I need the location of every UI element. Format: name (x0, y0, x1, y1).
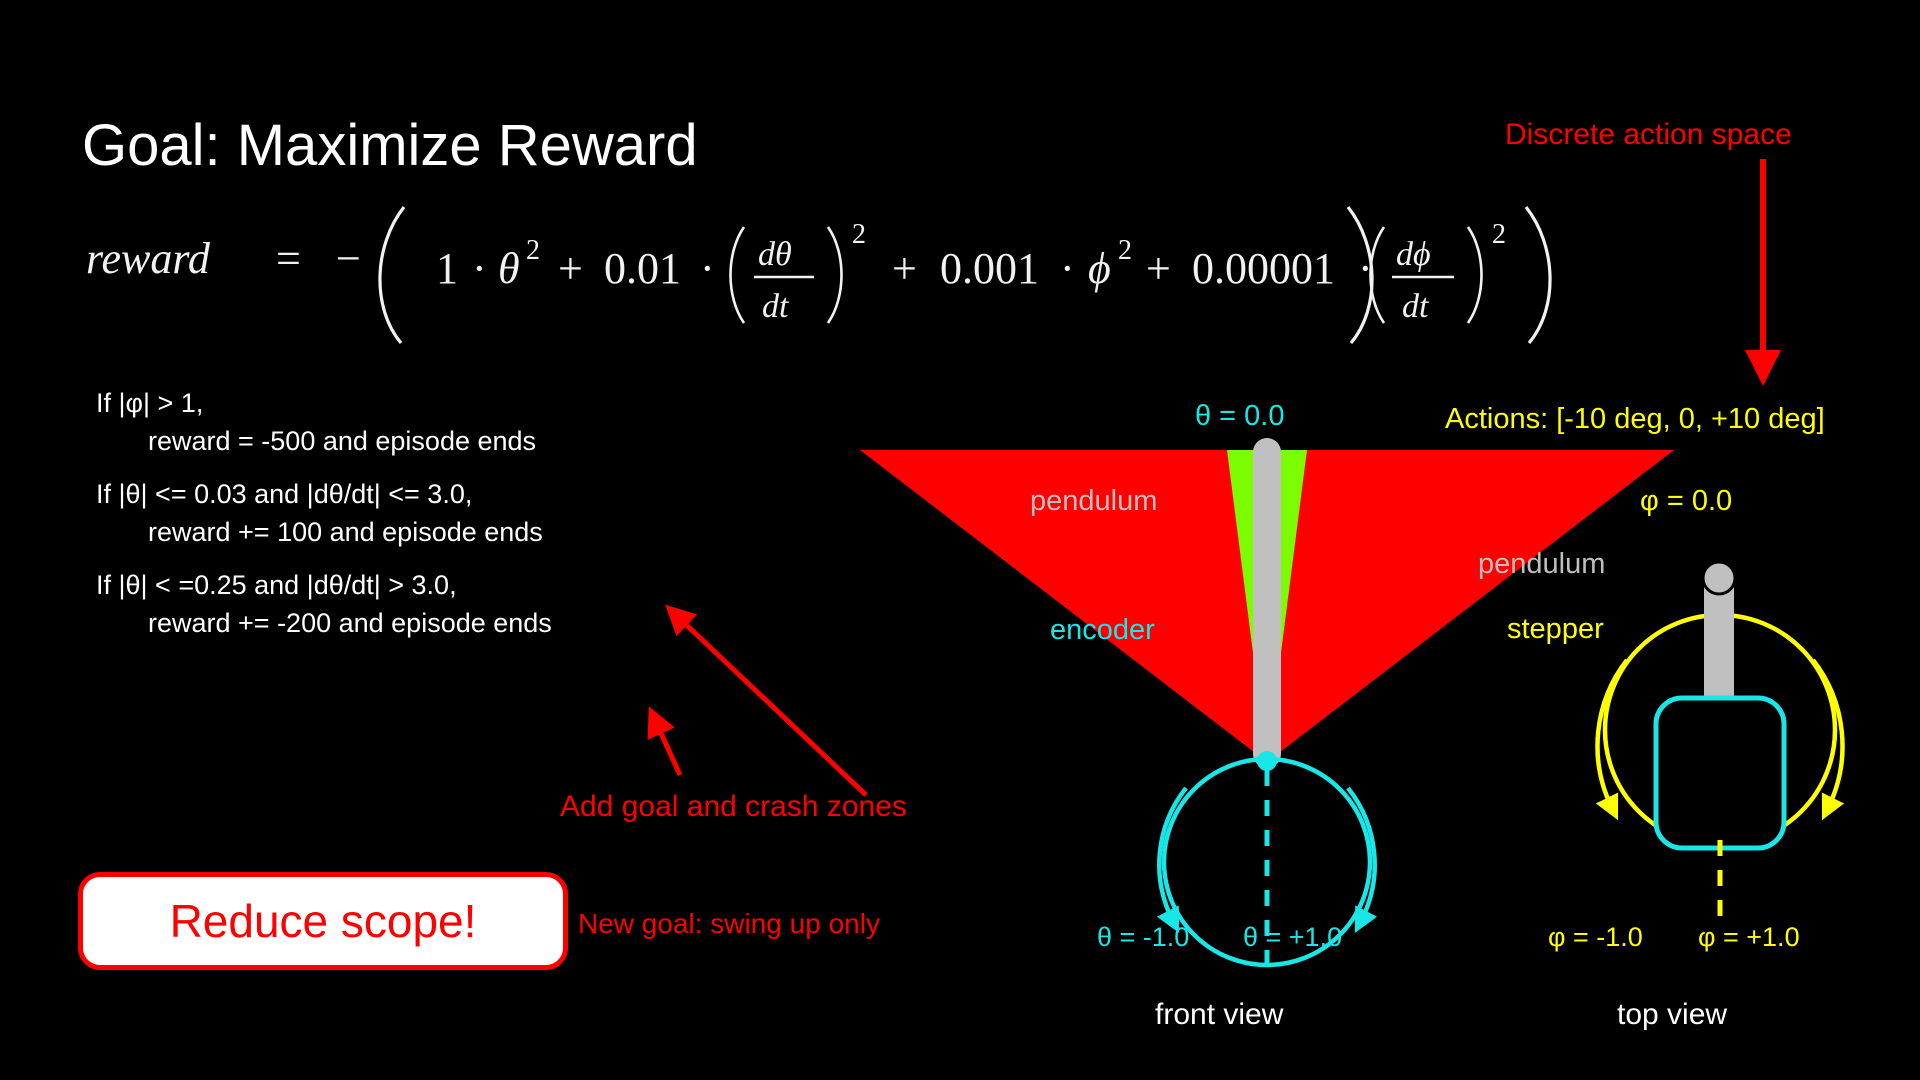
condition-line-1: If |θ| <= 0.03 and |dθ/dt| <= 3.0, (96, 481, 756, 508)
svg-text:2: 2 (1118, 235, 1132, 266)
svg-text:·: · (700, 244, 715, 293)
stepper-arrow-cw (1813, 660, 1842, 808)
pendulum-rod (1253, 438, 1281, 768)
front-view-encoder-label: encoder (1050, 614, 1155, 647)
svg-text:−: − (336, 234, 361, 283)
page-title: Goal: Maximize Reward (82, 117, 698, 175)
top-view-stepper-label: stepper (1507, 613, 1604, 646)
reduce-scope-callout-box: Reduce scope! (78, 872, 568, 970)
top-view-pendulum-label: pendulum (1478, 548, 1605, 581)
condition-item: If |θ| <= 0.03 and |dθ/dt| <= 3.0, rewar… (96, 481, 756, 546)
svg-text:0.001: 0.001 (940, 244, 1039, 293)
reward-conditions-list: If |φ| > 1, reward = -500 and episode en… (96, 390, 756, 663)
top-view-phi-pos-label: φ = +1.0 (1698, 922, 1800, 953)
svg-text:ϕ: ϕ (1088, 244, 1111, 293)
svg-text:0.01: 0.01 (604, 244, 681, 293)
condition-line-2: reward = -500 and episode ends (96, 428, 756, 455)
pendulum-bob-top (1703, 562, 1735, 594)
svg-text:2: 2 (1492, 219, 1506, 250)
svg-text:reward: reward (86, 234, 211, 283)
condition-line-2: reward += 100 and episode ends (96, 519, 756, 546)
condition-line-1: If |θ| < =0.25 and |dθ/dt| > 3.0, (96, 572, 756, 599)
svg-text:dt: dt (1402, 288, 1430, 325)
actions-label: Actions: [-10 deg, 0, +10 deg] (1445, 403, 1825, 436)
svg-text:+: + (1146, 244, 1171, 293)
svg-text:1: 1 (436, 244, 458, 293)
front-view-caption: front view (1155, 998, 1283, 1032)
svg-text:+: + (892, 244, 917, 293)
condition-line-1: If |φ| > 1, (96, 390, 756, 417)
front-view-theta-pos-label: θ = +1.0 (1243, 922, 1342, 953)
svg-text:2: 2 (526, 235, 540, 266)
front-view-pendulum-label: pendulum (1030, 485, 1157, 518)
svg-text:0.00001: 0.00001 (1192, 244, 1335, 293)
front-view-theta-zero-label: θ = 0.0 (1195, 400, 1285, 433)
stepper-arrow-ccw (1598, 660, 1627, 808)
top-view-caption: top view (1617, 998, 1727, 1032)
front-view-theta-neg-label: θ = -1.0 (1097, 922, 1189, 953)
svg-text:dϕ: dϕ (1396, 236, 1431, 273)
annotation-new-goal: New goal: swing up only (578, 908, 880, 940)
svg-text:dθ: dθ (758, 236, 792, 273)
svg-text:=: = (276, 234, 301, 283)
arm-body (1656, 698, 1784, 848)
top-view-phi-zero-label: φ = 0.0 (1640, 485, 1732, 518)
top-view-phi-neg-label: φ = -1.0 (1548, 922, 1643, 953)
arrow-to-crash-zone-rule (655, 720, 680, 775)
svg-text:·: · (472, 244, 487, 293)
svg-text:·: · (1060, 244, 1075, 293)
condition-item: If |θ| < =0.25 and |dθ/dt| > 3.0, reward… (96, 572, 756, 637)
slide-canvas: Goal: Maximize Reward reward = − 1 · θ 2… (0, 0, 1920, 1080)
svg-text:dt: dt (762, 288, 790, 325)
annotation-add-goal-and-crash-zones: Add goal and crash zones (560, 790, 907, 824)
svg-text:2: 2 (852, 219, 866, 250)
svg-text:+: + (558, 244, 583, 293)
reduce-scope-label: Reduce scope! (170, 894, 477, 948)
reward-formula: reward = − 1 · θ 2 + 0.01 · dθ dt (86, 205, 1606, 345)
annotation-discrete-action-space: Discrete action space (1505, 118, 1792, 152)
svg-text:θ: θ (498, 244, 520, 293)
pivot-point (1257, 751, 1277, 771)
top-view-diagram (1540, 540, 1900, 900)
condition-item: If |φ| > 1, reward = -500 and episode en… (96, 390, 756, 455)
condition-line-2: reward += -200 and episode ends (96, 610, 756, 637)
